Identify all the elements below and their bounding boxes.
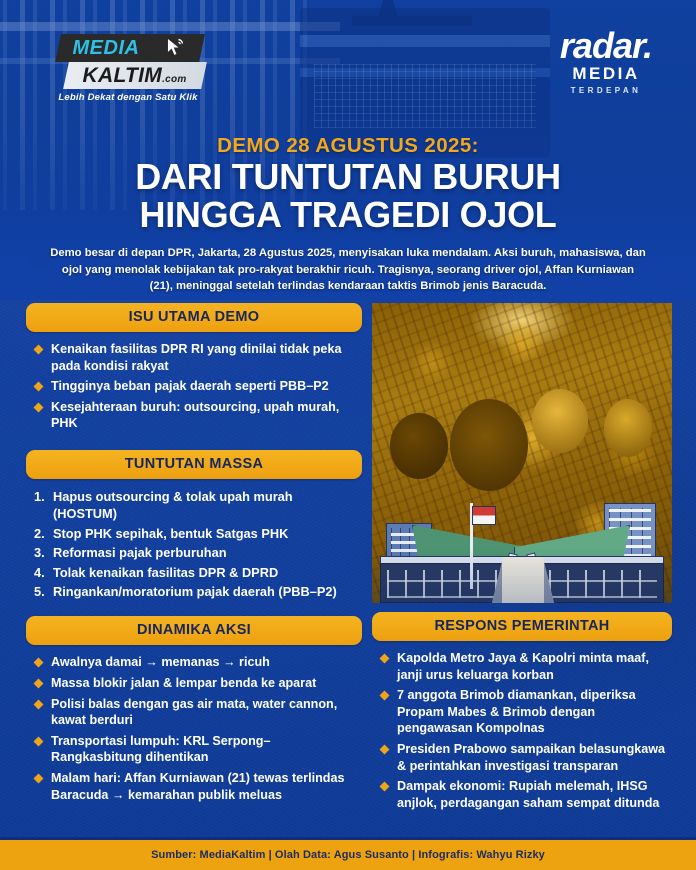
spacer bbox=[26, 602, 362, 616]
list-item: Transportasi lumpuh: KRL Serpong–Rangkas… bbox=[34, 733, 360, 766]
page-title-line2: HINGGA TRAGEDI OJOL bbox=[28, 196, 668, 234]
diamond-bullet-icon bbox=[34, 774, 44, 784]
logo-media-text: MEDIA bbox=[58, 34, 154, 62]
crowd-face-detail bbox=[390, 413, 448, 479]
logo-top-row: MEDIA bbox=[52, 34, 204, 64]
crowd-face-detail bbox=[450, 399, 528, 491]
radar-media-logo[interactable]: radar. MEDIA TERDEPAN bbox=[560, 28, 652, 97]
list-item-text: Kenaikan fasilitas DPR RI yang dinilai t… bbox=[51, 342, 341, 373]
list-item-text: Stop PHK sepihak, bentuk Satgas PHK bbox=[53, 526, 288, 541]
list-item: Awalnya damai → memanas → ricuh bbox=[34, 654, 360, 671]
section-heading-tuntutan-massa: TUNTUTAN MASSA bbox=[26, 450, 362, 479]
list-item: Kesejahteraan buruh: outsourcing, upah m… bbox=[34, 399, 360, 432]
list-item-text: Tingginya beban pajak daerah seperti PBB… bbox=[51, 379, 329, 393]
radar-wordmark: radar. bbox=[560, 28, 652, 64]
diamond-bullet-icon bbox=[34, 699, 44, 709]
list-item: 3.Reformasi pajak perburuhan bbox=[34, 544, 360, 561]
list-item-number: 1. bbox=[34, 488, 45, 505]
list-item-text: Reformasi pajak perburuhan bbox=[53, 545, 227, 560]
list-item-text: Dampak ekonomi: Rupiah melemah, IHSG anj… bbox=[397, 779, 659, 810]
spacer bbox=[26, 436, 362, 450]
list-item: Massa blokir jalan & lempar benda ke apa… bbox=[34, 675, 360, 692]
list-item-text: 7 anggota Brimob diamankan, diperiksa Pr… bbox=[397, 688, 636, 735]
list-item-text: Kesejahteraan buruh: outsourcing, upah m… bbox=[51, 400, 339, 431]
protest-photo-card bbox=[372, 303, 672, 603]
diamond-bullet-icon bbox=[34, 345, 44, 355]
diamond-bullet-icon bbox=[380, 782, 390, 792]
list-item: 4.Tolak kenaikan fasilitas DPR & DPRD bbox=[34, 564, 360, 581]
diamond-bullet-icon bbox=[380, 691, 390, 701]
isu-utama-list: Kenaikan fasilitas DPR RI yang dinilai t… bbox=[26, 341, 362, 432]
radar-tagline: TERDEPAN bbox=[560, 84, 652, 97]
left-column: ISU UTAMA DEMO Kenaikan fasilitas DPR RI… bbox=[26, 303, 362, 807]
title-block: DEMO 28 AGUSTUS 2025: DARI TUNTUTAN BURU… bbox=[0, 134, 696, 295]
indonesia-flag-icon bbox=[472, 506, 496, 525]
diamond-bullet-icon bbox=[34, 402, 44, 412]
section-heading-isu-utama: ISU UTAMA DEMO bbox=[26, 303, 362, 332]
respons-pemerintah-list: Kapolda Metro Jaya & Kapolri minta maaf,… bbox=[372, 650, 672, 811]
section-heading-respons-pemerintah: RESPONS PEMERINTAH bbox=[372, 612, 672, 641]
diamond-bullet-icon bbox=[34, 382, 44, 392]
diamond-bullet-icon bbox=[380, 745, 390, 755]
diamond-bullet-icon bbox=[34, 679, 44, 689]
list-item-number: 4. bbox=[34, 564, 45, 581]
logo-kaltim-word: KALTIM bbox=[83, 64, 163, 87]
logo-bottom-row: KALTIM.com bbox=[63, 62, 207, 89]
section-heading-dinamika-aksi: DINAMIKA AKSI bbox=[26, 616, 362, 645]
footer-credits-text: Sumber: MediaKaltim | Olah Data: Agus Su… bbox=[151, 849, 545, 861]
list-item: Kenaikan fasilitas DPR RI yang dinilai t… bbox=[34, 341, 360, 374]
list-item: 2.Stop PHK sepihak, bentuk Satgas PHK bbox=[34, 525, 360, 542]
list-item-number: 3. bbox=[34, 544, 45, 561]
radar-subtitle: MEDIA bbox=[560, 64, 652, 84]
intro-paragraph: Demo besar di depan DPR, Jakarta, 28 Agu… bbox=[28, 245, 668, 295]
diamond-bullet-icon bbox=[34, 736, 44, 746]
list-item: Polisi balas dengan gas air mata, water … bbox=[34, 696, 360, 729]
logo-media-badge: MEDIA bbox=[55, 34, 157, 62]
list-item-text: Kapolda Metro Jaya & Kapolri minta maaf,… bbox=[397, 651, 649, 682]
list-item-number: 2. bbox=[34, 525, 45, 542]
footer-credits-bar: Sumber: MediaKaltim | Olah Data: Agus Su… bbox=[0, 840, 696, 870]
logo-cursor-badge bbox=[145, 34, 205, 62]
diamond-bullet-icon bbox=[380, 654, 390, 664]
list-item: 1.Hapus outsourcing & tolak upah murah (… bbox=[34, 488, 360, 523]
list-item-number: 5. bbox=[34, 583, 45, 600]
tuntutan-massa-list: 1.Hapus outsourcing & tolak upah murah (… bbox=[26, 488, 362, 600]
list-item: Malam hari: Affan Kurniawan (21) tewas t… bbox=[34, 770, 360, 803]
list-item-text: Ringankan/moratorium pajak daerah (PBB–P… bbox=[53, 584, 337, 599]
infographic-poster: MEDIA KALTIM.com Lebih Dekat dengan Satu… bbox=[0, 0, 696, 870]
list-item-text: Polisi balas dengan gas air mata, water … bbox=[51, 697, 337, 728]
spacer bbox=[372, 603, 672, 612]
list-item: Kapolda Metro Jaya & Kapolri minta maaf,… bbox=[380, 650, 670, 683]
list-item: Tingginya beban pajak daerah seperti PBB… bbox=[34, 378, 360, 395]
list-item: Presiden Prabowo sampaikan belasungkawa … bbox=[380, 741, 670, 774]
logo-dotcom: .com bbox=[162, 74, 187, 85]
list-item-text: Hapus outsourcing & tolak upah murah (HO… bbox=[53, 489, 293, 521]
crowd-face-detail bbox=[532, 389, 588, 453]
list-item-text: Transportasi lumpuh: KRL Serpong–Rangkas… bbox=[51, 734, 270, 765]
list-item-text: Malam hari: Affan Kurniawan (21) tewas t… bbox=[51, 771, 344, 802]
mediakaltim-logo[interactable]: MEDIA KALTIM.com Lebih Dekat dengan Satu… bbox=[52, 34, 204, 104]
diamond-bullet-icon bbox=[34, 658, 44, 668]
cursor-arrow-icon bbox=[163, 37, 185, 62]
photo-bottom-fade bbox=[372, 547, 672, 603]
logo-kaltim-text: KALTIM.com bbox=[66, 62, 204, 93]
crowd-face-detail bbox=[604, 399, 652, 457]
list-item: Dampak ekonomi: Rupiah melemah, IHSG anj… bbox=[380, 778, 670, 811]
list-item-text: Massa blokir jalan & lempar benda ke apa… bbox=[51, 676, 316, 690]
list-item-text: Awalnya damai → memanas → ricuh bbox=[51, 655, 270, 669]
dinamika-aksi-list: Awalnya damai → memanas → ricuh Massa bl… bbox=[26, 654, 362, 803]
logo-tagline: Lebih Dekat dengan Satu Klik bbox=[52, 92, 204, 103]
list-item: 7 anggota Brimob diamankan, diperiksa Pr… bbox=[380, 687, 670, 737]
page-title-line1: DARI TUNTUTAN BURUH bbox=[28, 158, 668, 196]
list-item-text: Presiden Prabowo sampaikan belasungkawa … bbox=[397, 742, 665, 773]
right-column: RESPONS PEMERINTAH Kapolda Metro Jaya & … bbox=[372, 303, 672, 815]
list-item: 5.Ringankan/moratorium pajak daerah (PBB… bbox=[34, 583, 360, 600]
list-item-text: Tolak kenaikan fasilitas DPR & DPRD bbox=[53, 565, 278, 580]
kicker-text: DEMO 28 AGUSTUS 2025: bbox=[28, 134, 668, 158]
